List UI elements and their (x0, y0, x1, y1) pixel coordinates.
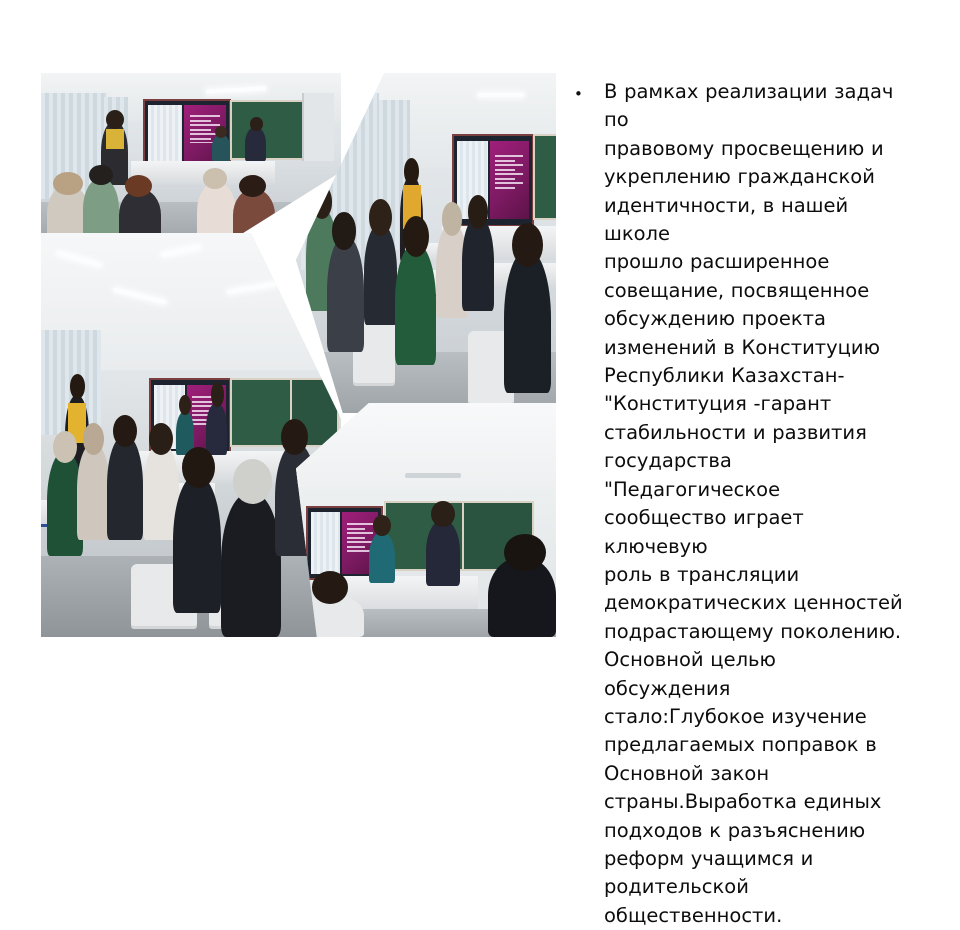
audience-head (149, 423, 173, 455)
presentation-screen (452, 134, 534, 226)
audience-head (233, 459, 272, 503)
collage-photo-bottom-right[interactable] (296, 403, 556, 637)
audience-head (203, 168, 227, 188)
presenter-head (106, 110, 124, 129)
bullet-marker-icon: • (574, 78, 604, 102)
presenter-head (431, 501, 454, 527)
seated-head (250, 117, 264, 131)
bullet-item: • В рамках реализации задач по правовому… (574, 78, 904, 930)
audience-figure (107, 435, 143, 540)
audience-head (125, 175, 152, 197)
chalkboard (230, 100, 306, 160)
photo-collage (41, 73, 556, 637)
audience-head (403, 216, 429, 257)
bullet-paragraph: В рамках реализации задач по правовому п… (604, 78, 904, 930)
photo-scene-top-left (41, 73, 341, 243)
presenter-head (373, 515, 391, 536)
screen-left-pane (148, 105, 182, 165)
ceiling-lamp-icon (478, 93, 524, 97)
audience-head (83, 423, 104, 455)
audience-figure (327, 236, 363, 352)
audience-head (89, 165, 113, 185)
photo-scene-bottom-right (296, 403, 556, 637)
audience-figure (173, 475, 221, 612)
presenter-head (70, 374, 85, 398)
audience-head (512, 223, 543, 267)
audience-head (113, 415, 137, 447)
slide-canvas: • В рамках реализации задач по правовому… (0, 0, 960, 720)
audience-head (53, 172, 83, 196)
audience-figure (364, 223, 398, 325)
audience-head (182, 447, 215, 487)
audience-head (53, 431, 77, 463)
collage-photo-top-left[interactable] (41, 73, 341, 243)
audience-figure (77, 443, 110, 540)
seated-head (211, 382, 225, 406)
collage-photo-left[interactable] (41, 233, 341, 637)
presenter-scarf (106, 129, 124, 149)
chalkboard (533, 134, 556, 220)
audience-head (312, 571, 348, 604)
audience-head (281, 419, 308, 455)
audience-head (239, 175, 266, 197)
audience-figure (395, 243, 437, 365)
door (302, 93, 334, 161)
slide-body-text: • В рамках реализации задач по правовому… (574, 78, 904, 930)
seated-head (179, 395, 191, 415)
audience-figure (504, 250, 551, 393)
audience-figure (221, 492, 281, 637)
presenter-figure (426, 520, 460, 586)
audience-head (332, 212, 355, 249)
audience-head (504, 534, 546, 571)
screen-left-pane (311, 512, 340, 574)
audience-figure (462, 216, 493, 311)
screen-right-pane (490, 141, 529, 219)
seated-figure (245, 127, 266, 161)
ceiling-lamp-icon (405, 473, 461, 478)
seated-figure (212, 134, 230, 161)
seated-figure (206, 403, 227, 456)
photo-scene-left (41, 233, 341, 637)
presenter-figure (369, 532, 395, 583)
seated-head (215, 126, 227, 138)
